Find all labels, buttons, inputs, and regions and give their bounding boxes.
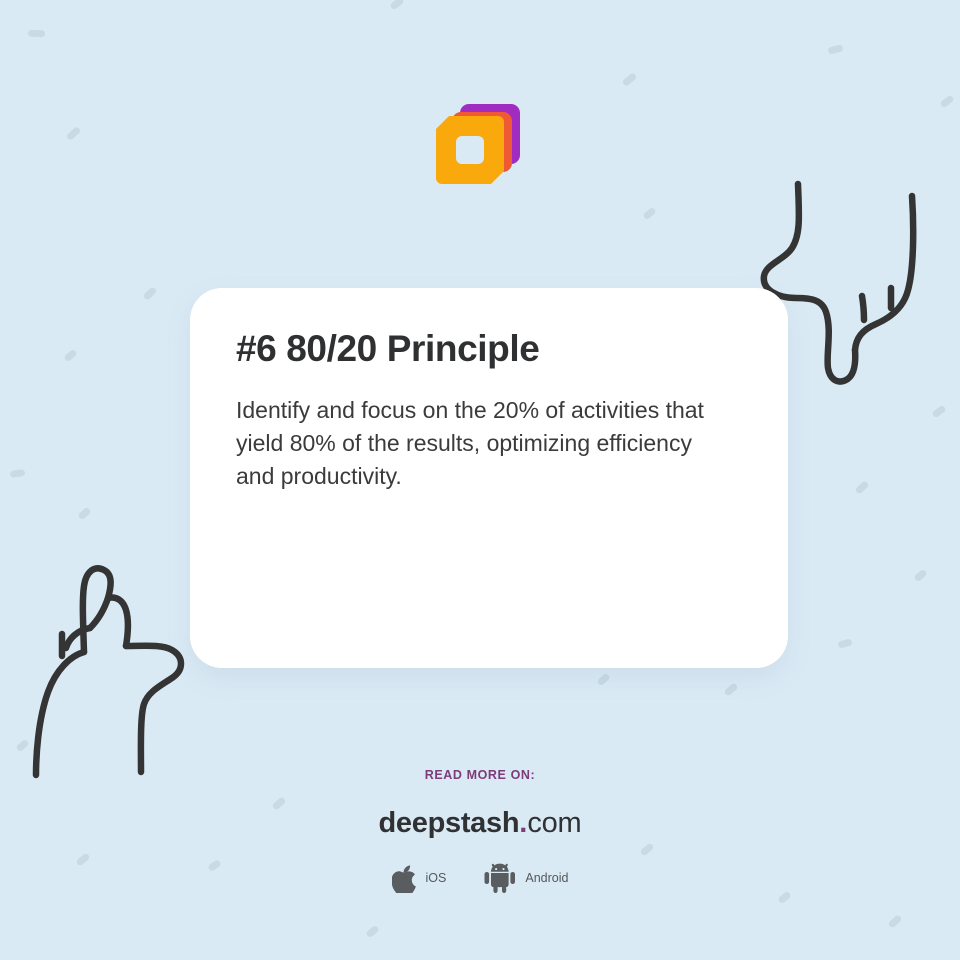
confetti-speck [854, 480, 869, 495]
confetti-speck [596, 673, 610, 687]
confetti-speck [63, 349, 77, 363]
deepstash-wordmark[interactable]: deepstash.com [379, 809, 582, 838]
android-icon [484, 863, 516, 893]
idea-card-page: #6 80/20 Principle Identify and focus on… [0, 0, 960, 960]
card-body-text: Identify and focus on the 20% of activit… [236, 394, 736, 493]
android-store-badge[interactable]: Android [484, 863, 568, 893]
store-badges: iOS [392, 863, 569, 893]
confetti-speck [28, 30, 45, 38]
wordmark-brand: deepstash [379, 807, 520, 839]
deepstash-logo[interactable] [432, 100, 528, 196]
read-more-label: READ MORE ON: [425, 768, 536, 782]
logo-container [0, 100, 960, 196]
ios-label: iOS [426, 871, 447, 885]
confetti-speck [365, 925, 380, 939]
confetti-speck [887, 914, 902, 929]
ios-store-badge[interactable]: iOS [392, 863, 447, 893]
confetti-speck [389, 0, 404, 11]
confetti-speck [827, 44, 843, 54]
hand-pointing-left [22, 560, 212, 790]
confetti-speck [931, 405, 946, 419]
idea-card: #6 80/20 Principle Identify and focus on… [190, 288, 788, 668]
confetti-speck [77, 507, 91, 521]
android-label: Android [525, 871, 568, 885]
apple-icon [392, 863, 417, 893]
card-title: #6 80/20 Principle [236, 326, 742, 372]
confetti-speck [10, 469, 26, 478]
confetti-speck [723, 682, 738, 696]
confetti-speck [15, 739, 29, 753]
confetti-speck [143, 286, 158, 301]
confetti-speck [913, 569, 927, 583]
confetti-speck [622, 72, 638, 87]
footer: READ MORE ON: deepstash.com iOS [0, 768, 960, 893]
wordmark-tld: com [527, 807, 581, 839]
confetti-speck [837, 638, 852, 648]
confetti-speck [642, 207, 656, 221]
